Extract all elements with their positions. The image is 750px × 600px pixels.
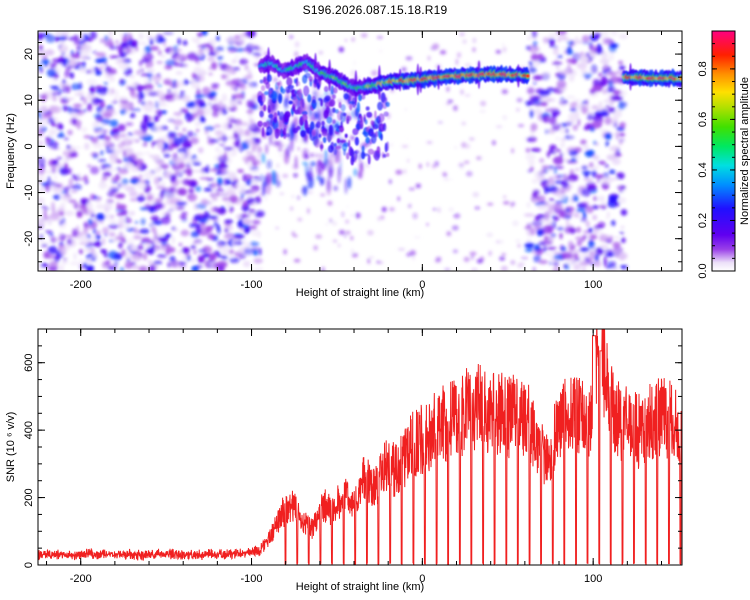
colorbar-tick-label: 0.4 <box>697 162 709 177</box>
colorbar-tick-labels: 0.00.20.40.60.8 <box>697 61 709 278</box>
y-tick-label: 200 <box>23 488 35 506</box>
colorbar-label: Normalized spectral amplitude <box>739 77 750 225</box>
y-tick-label: -10 <box>23 185 35 201</box>
spectrogram-ylabel: Frequency (Hz) <box>5 113 17 189</box>
y-tick-label: -20 <box>23 231 35 247</box>
colorbar-tick-label: 0.0 <box>697 263 709 278</box>
colorbar-tick-label: 0.8 <box>697 61 709 76</box>
figure-title: S196.2026.087.15.18.R19 <box>0 3 750 17</box>
spectrogram-panel: -200-1000100-20-1001020 Height of straig… <box>5 29 683 299</box>
x-tick-label: -200 <box>70 573 92 585</box>
snr-panel: -200-10001000200400600 Height of straigh… <box>5 329 682 593</box>
plot-canvas: -200-1000100-20-1001020 Height of straig… <box>0 0 750 600</box>
snr-xlabel: Height of straight line (km) <box>296 581 424 593</box>
y-tick-label: 20 <box>23 48 35 60</box>
colorbar-tick-label: 0.6 <box>697 112 709 127</box>
y-tick-label: 400 <box>23 421 35 439</box>
y-tick-label: 0 <box>23 562 35 568</box>
colorbar-tick-label: 0.2 <box>697 213 709 228</box>
x-tick-label: -200 <box>70 279 92 291</box>
x-tick-label: -100 <box>241 573 263 585</box>
figure-root: S196.2026.087.15.18.R19 <box>0 0 750 600</box>
x-tick-label: 100 <box>584 279 602 291</box>
colorbar: 0.00.20.40.60.8 Normalized spectral ampl… <box>697 31 750 279</box>
colorbar-gradient <box>712 31 735 271</box>
y-tick-label: 0 <box>23 143 35 149</box>
x-tick-label: -100 <box>241 279 263 291</box>
y-tick-label: 600 <box>23 354 35 372</box>
spectrogram-xlabel: Height of straight line (km) <box>296 287 424 299</box>
y-tick-label: 10 <box>23 94 35 106</box>
x-tick-label: 100 <box>584 573 602 585</box>
snr-ylabel: SNR (10 ⁶ v/v) <box>5 412 17 483</box>
